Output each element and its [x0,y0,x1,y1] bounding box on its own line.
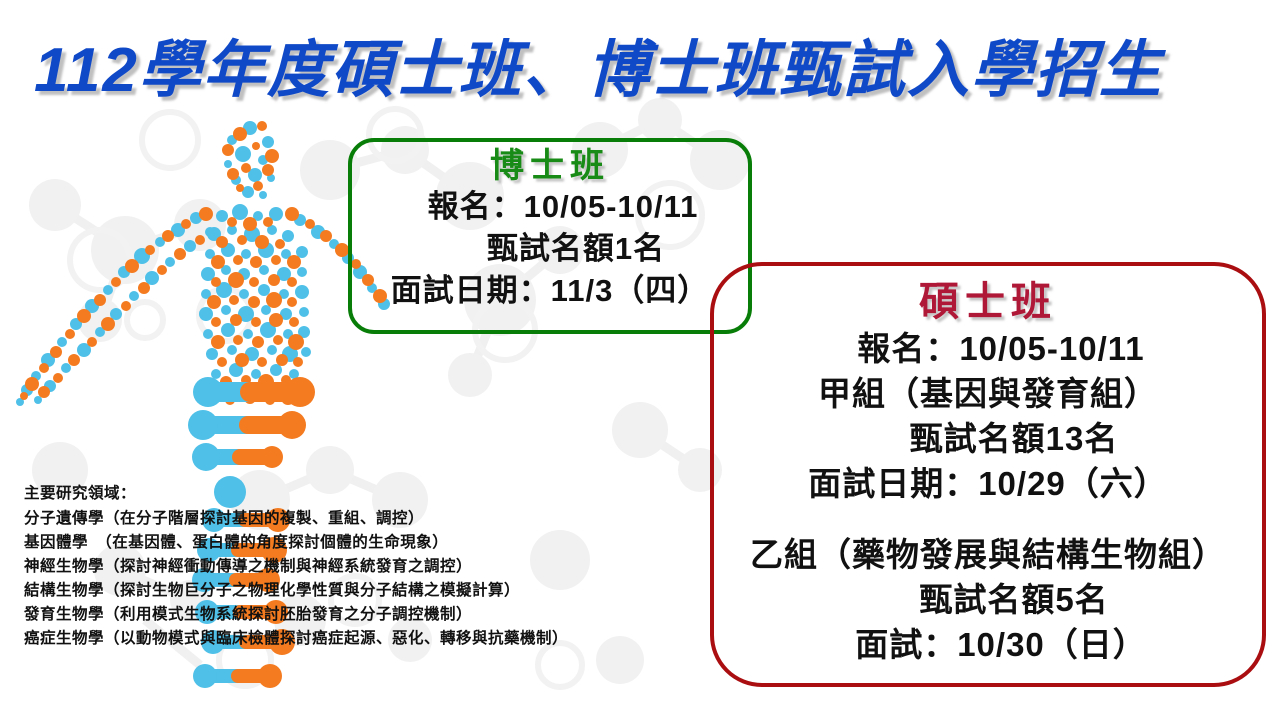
phd-interview-date: 面試日期：11/3（四） [352,270,748,312]
research-area-item: 結構生物學（探討生物巨分子之物理化學性質與分子結構之模擬計算） [24,579,568,603]
research-area-item: 基因體學 （在基因體、蛋白體的角度探討個體的生命現象） [24,531,568,555]
recruitment-poster: 112學年度碩士班、博士班甄試入學招生 博士班 報名：10/05-10/11 甄… [0,0,1280,720]
research-areas-title: 主要研究領域： [24,482,568,506]
master-group-b-interview-date: 面試：10/30（日） [714,622,1262,667]
research-area-item: 神經生物學（探討神經衝動傳導之機制與神經系統發育之調控） [24,555,568,579]
phd-application-period: 報名：10/05-10/11 [352,186,748,228]
phd-quota: 甄試名額1名 [352,228,748,270]
master-group-b-quota: 甄試名額5名 [714,577,1262,622]
master-group-a-name: 甲組（基因與發育組） [714,371,1262,416]
research-area-item: 分子遺傳學（在分子階層探討基因的複製、重組、調控） [24,507,568,531]
phd-admission-box: 博士班 報名：10/05-10/11 甄試名額1名 面試日期：11/3（四） [348,138,752,334]
master-admission-box: 碩士班 報名：10/05-10/11 甲組（基因與發育組） 甄試名額13名 面試… [710,262,1266,687]
box-spacer [714,506,1262,532]
master-group-a-quota: 甄試名額13名 [714,416,1262,461]
master-group-a-interview-date: 面試日期：10/29（六） [714,461,1262,506]
research-area-item: 癌症生物學（以動物模式與臨床檢體探討癌症起源、惡化、轉移與抗藥機制） [24,627,568,651]
phd-heading: 博士班 [352,146,748,186]
research-area-item: 發育生物學（利用模式生物系統探討胚胎發育之分子調控機制） [24,603,568,627]
master-application-period: 報名：10/05-10/11 [714,326,1262,371]
page-title: 112學年度碩士班、博士班甄試入學招生 [34,34,1264,108]
master-group-b-name: 乙組（藥物發展與結構生物組） [714,532,1262,577]
master-heading: 碩士班 [714,278,1262,326]
research-areas-list: 主要研究領域： 分子遺傳學（在分子階層探討基因的複製、重組、調控） 基因體學 （… [24,482,568,651]
